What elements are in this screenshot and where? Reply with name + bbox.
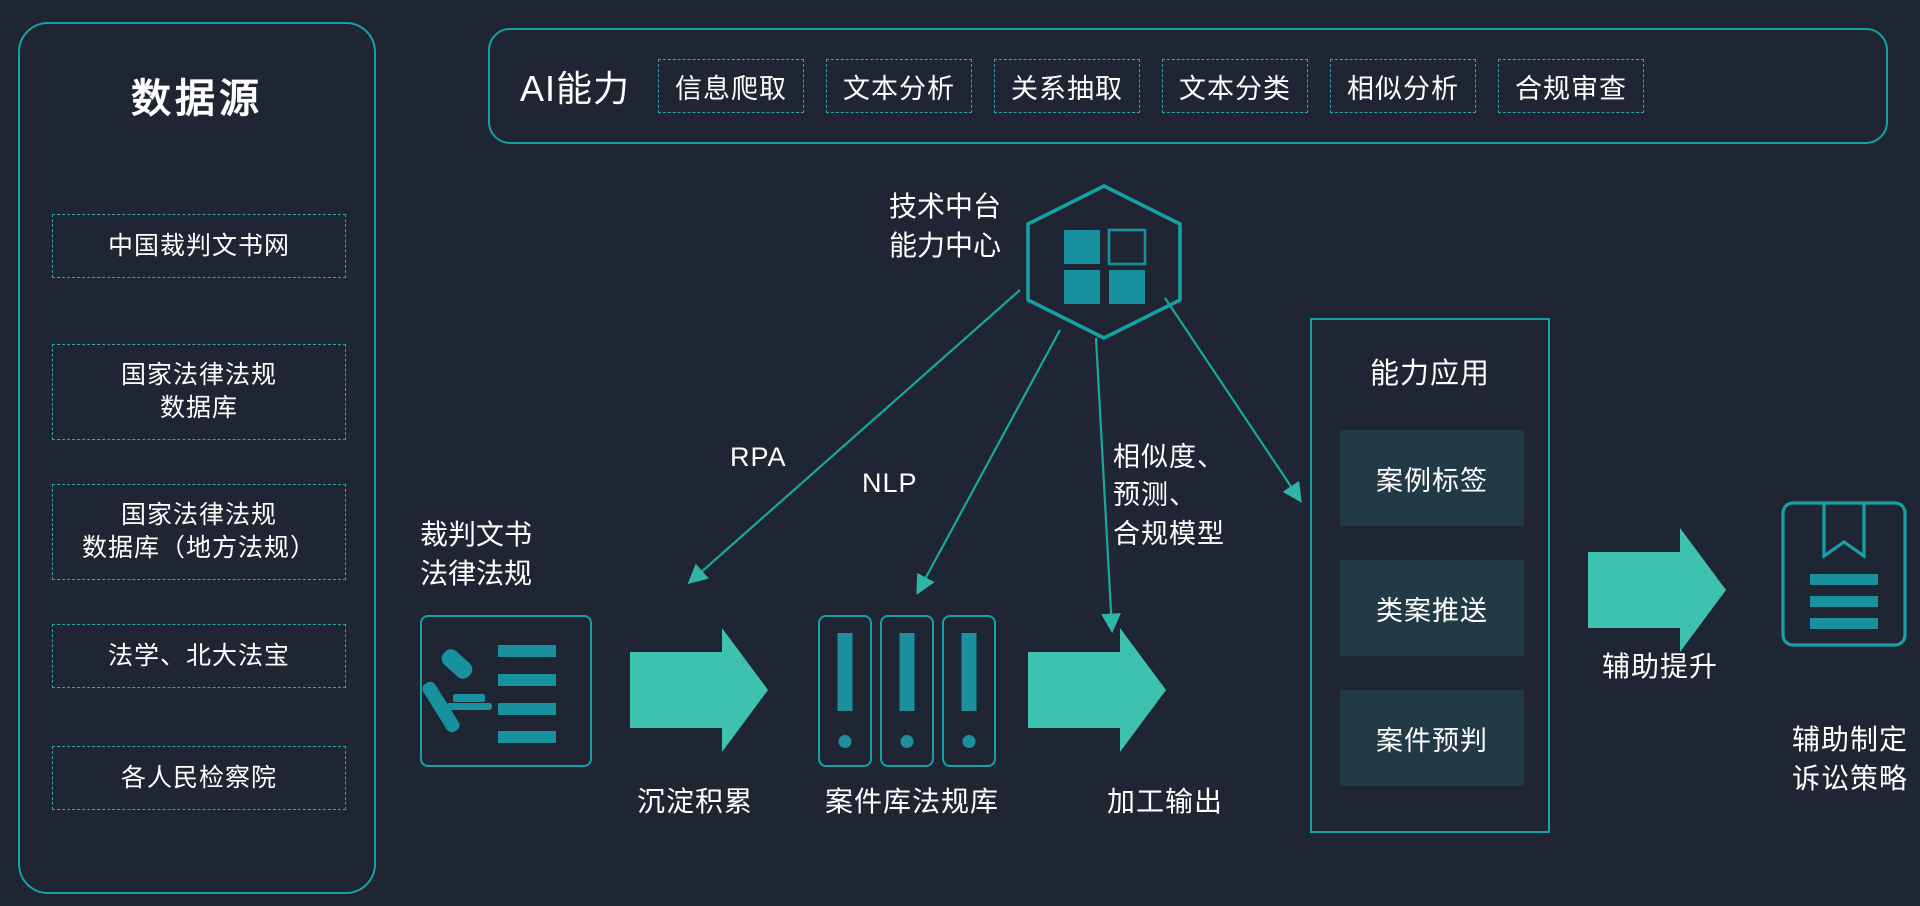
tech-center-label-line2: 能力中心 [840,227,1050,266]
datasource-item-1[interactable]: 国家法律法规数据库 [52,344,346,440]
caption-case-database: 案件库法规库 [812,780,1012,820]
capability-application-title: 能力应用 [1312,350,1548,392]
connector-nlp [918,330,1060,592]
datasource-panel: 数据源 中国裁判文书网 国家法律法规数据库 国家法律法规数据库（地方法规） 法学… [18,22,376,894]
server-rack-icon [818,615,996,767]
datasource-item-4[interactable]: 各人民检察院 [52,746,346,810]
connector-rpa [690,290,1020,582]
ai-chip-label: 文本分类 [1179,67,1291,106]
connector-label-rpa: RPA [730,438,787,476]
capability-application-panel: 能力应用 案例标签 类案推送 案件预判 [1310,318,1550,833]
ai-chip-0[interactable]: 信息爬取 [658,59,804,113]
datasource-item-label: 国家法律法规数据库（地方法规） [82,499,316,565]
final-caption-line1: 辅助制定 [1765,720,1920,759]
caption-process-output: 加工输出 [1080,780,1250,820]
datasource-item-0[interactable]: 中国裁判文书网 [52,214,346,278]
server-dot [963,735,976,748]
capability-item-label: 类案推送 [1376,589,1488,628]
capability-item-1[interactable]: 类案推送 [1340,560,1524,656]
server-unit-2 [942,615,996,767]
ai-capability-title: AI能力 [520,60,630,112]
block-arrow-3 [1588,528,1726,652]
final-caption-line2: 诉讼策略 [1765,759,1920,798]
capability-item-0[interactable]: 案例标签 [1340,430,1524,526]
capability-item-label: 案例标签 [1376,459,1488,498]
datasource-item-label: 国家法律法规数据库 [121,359,277,425]
judgment-docs-label: 裁判文书 法律法规 [420,515,610,593]
ai-chip-5[interactable]: 合规审查 [1498,59,1644,113]
datasource-item-label: 法学、北大法宝 [108,640,290,673]
datasource-title: 数据源 [20,66,374,124]
connector-label-nlp: NLP [862,464,918,502]
datasource-item-2[interactable]: 国家法律法规数据库（地方法规） [52,484,346,580]
server-dot [901,735,914,748]
tech-center-label: 技术中台 能力中心 [840,188,1050,265]
bookmarked-document-icon [1780,500,1908,648]
ai-chip-2[interactable]: 关系抽取 [994,59,1140,113]
gavel-document-icon [420,615,592,767]
connector-label-similarity: 相似度、 预测、 合规模型 [1113,438,1225,553]
ai-chip-label: 关系抽取 [1011,67,1123,106]
server-unit-1 [880,615,934,767]
judgment-docs-label-line2: 法律法规 [420,554,610,593]
ai-capability-bar: AI能力 信息爬取 文本分析 关系抽取 文本分类 相似分析 合规审查 [488,28,1888,144]
tech-center-label-line1: 技术中台 [840,188,1050,227]
hexagon-grid-icon [1020,182,1188,342]
ai-chip-1[interactable]: 文本分析 [826,59,972,113]
server-bar [900,633,915,711]
datasource-item-label: 中国裁判文书网 [108,230,290,263]
ai-chip-label: 合规审查 [1515,67,1627,106]
caption-assist-improve: 辅助提升 [1570,645,1750,685]
capability-item-label: 案件预判 [1376,719,1488,758]
capability-item-2[interactable]: 案件预判 [1340,690,1524,786]
caption-deposit: 沉淀积累 [610,780,780,820]
block-arrow-2 [1028,628,1166,752]
server-dot [839,735,852,748]
judgment-docs-label-line1: 裁判文书 [420,515,610,554]
server-bar [838,633,853,711]
ai-chip-label: 相似分析 [1347,67,1459,106]
similarity-line1: 相似度、 [1113,438,1225,476]
similarity-line3: 合规模型 [1113,515,1225,553]
diagram-canvas: 数据源 中国裁判文书网 国家法律法规数据库 国家法律法规数据库（地方法规） 法学… [0,0,1920,906]
ai-chip-label: 文本分析 [843,67,955,106]
ai-chip-4[interactable]: 相似分析 [1330,59,1476,113]
server-unit-0 [818,615,872,767]
datasource-item-label: 各人民检察院 [121,762,277,795]
block-arrow-1 [630,628,768,752]
ai-chip-label: 信息爬取 [675,67,787,106]
datasource-item-3[interactable]: 法学、北大法宝 [52,624,346,688]
ai-chip-3[interactable]: 文本分类 [1162,59,1308,113]
server-bar [962,633,977,711]
connector-similarity-down [1096,338,1112,630]
caption-final-strategy: 辅助制定 诉讼策略 [1765,720,1920,798]
similarity-line2: 预测、 [1113,476,1225,514]
